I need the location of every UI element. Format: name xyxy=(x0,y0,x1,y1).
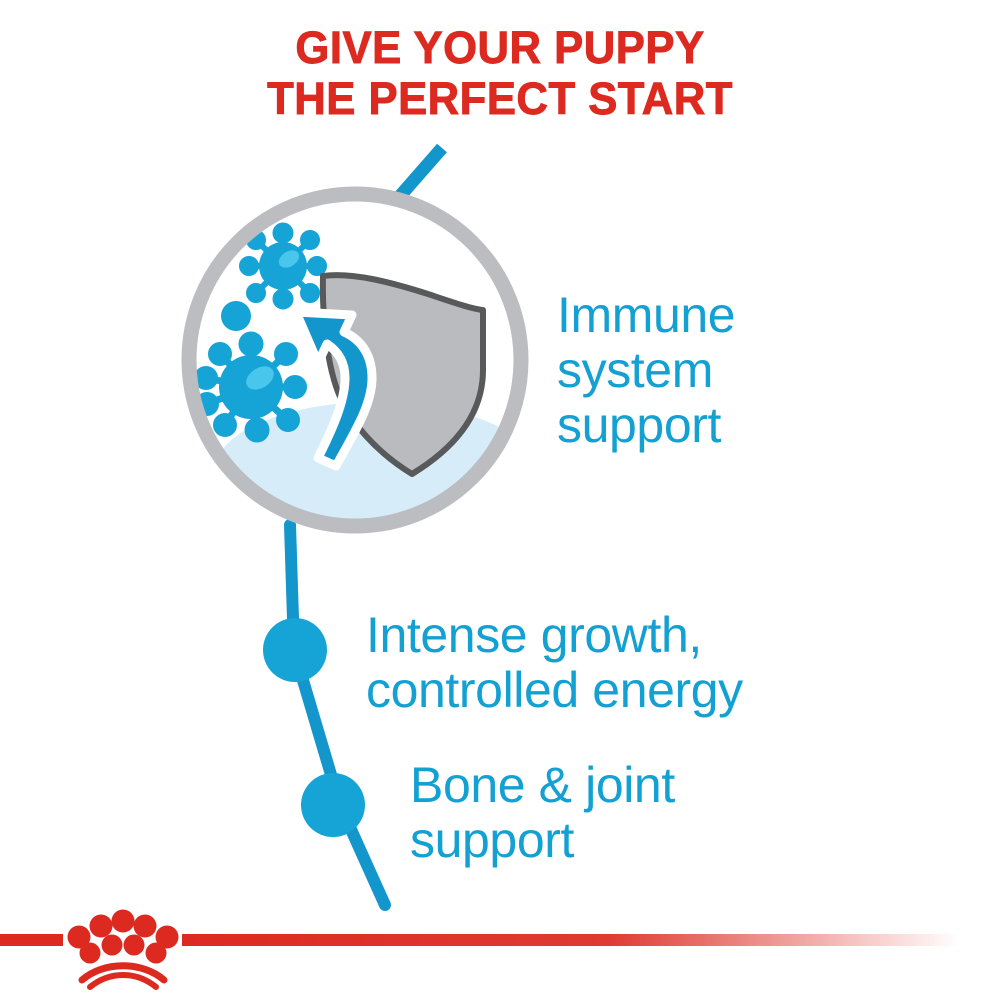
connector-dot-bone xyxy=(301,773,365,837)
benefit-growth-line-1: Intense growth, xyxy=(366,608,906,663)
footer-rule-right xyxy=(182,934,960,946)
germ-icon-small xyxy=(242,226,324,307)
particle-dot-icon xyxy=(221,301,251,331)
infographic-page: GIVE YOUR PUPPY THE PERFECT START xyxy=(0,0,1000,1000)
footer-rule-left xyxy=(0,934,63,946)
connector-dot-growth xyxy=(263,618,327,682)
benefit-growth-line-2: controlled energy xyxy=(366,663,906,718)
benefit-immune-line-3: support xyxy=(557,398,897,453)
benefit-label-immune: Immune system support xyxy=(557,288,897,453)
benefit-bone-line-1: Bone & joint xyxy=(410,758,840,813)
benefit-label-bone: Bone & joint support xyxy=(410,758,840,868)
royal-canin-crown-logo xyxy=(68,910,179,988)
germ-icon-large xyxy=(198,335,304,439)
benefit-bone-line-2: support xyxy=(410,813,840,868)
crown-arc-inner xyxy=(90,975,156,987)
benefit-immune-line-2: system xyxy=(557,343,897,398)
immune-shield-icon xyxy=(189,194,535,538)
benefit-label-growth: Intense growth, controlled energy xyxy=(366,608,906,718)
benefit-immune-line-1: Immune xyxy=(557,288,897,343)
footer-brand-bar xyxy=(0,895,1000,1000)
